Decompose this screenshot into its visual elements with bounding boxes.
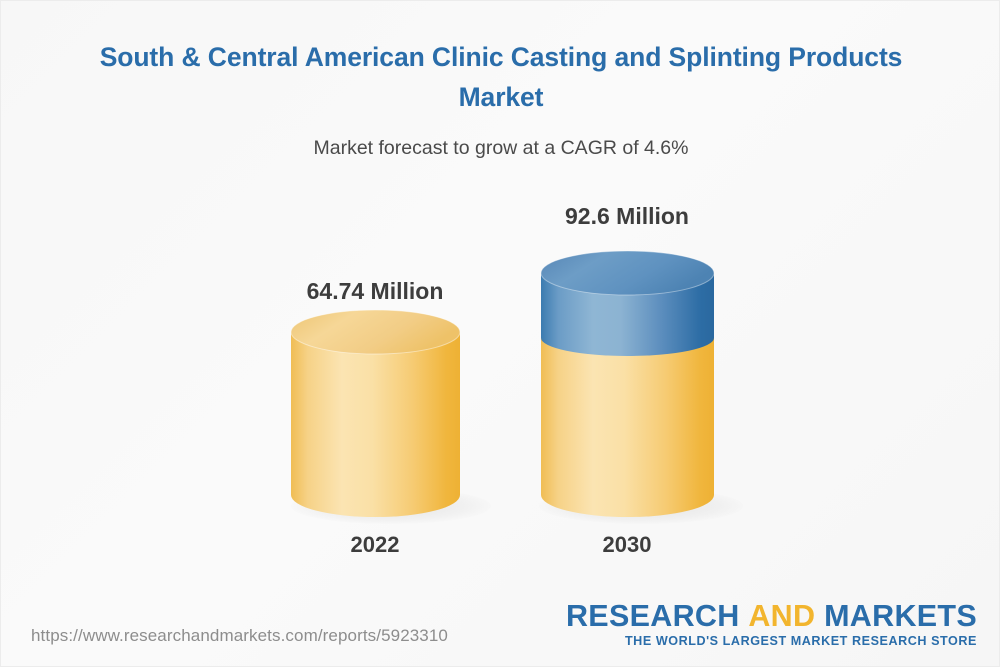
cylinder-2030 xyxy=(541,251,714,517)
bar-group-2030: 92.6 Million xyxy=(477,1,777,667)
cylinder-2022-svg xyxy=(291,310,460,517)
report-url[interactable]: https://www.researchandmarkets.com/repor… xyxy=(31,626,448,646)
chart-card: South & Central American Clinic Casting … xyxy=(0,0,1000,667)
chart-plot-area: 64.74 Million xyxy=(1,1,1000,667)
cylinder-2030-svg xyxy=(541,251,714,517)
brand-word-markets: MARKETS xyxy=(824,599,977,633)
bar-value-label-2030: 92.6 Million xyxy=(477,203,777,230)
cylinder-2022 xyxy=(291,310,460,517)
brand-word-and: AND xyxy=(748,599,815,633)
brand-tagline: THE WORLD'S LARGEST MARKET RESEARCH STOR… xyxy=(566,634,977,648)
brand-logo[interactable]: RESEARCH AND MARKETS THE WORLD'S LARGEST… xyxy=(566,600,977,648)
bar-category-label-2030: 2030 xyxy=(477,532,777,558)
brand-word-research: RESEARCH xyxy=(566,599,740,633)
brand-wordmark: RESEARCH AND MARKETS xyxy=(566,600,977,632)
